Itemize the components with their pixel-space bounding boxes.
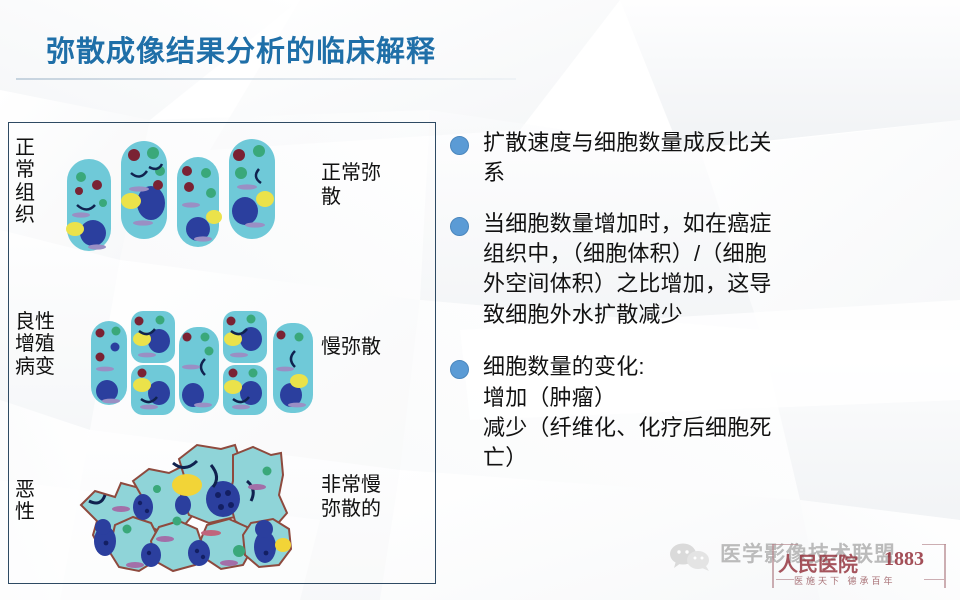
watermark: 医学影像技术联盟 人民医院 1883 医施天下 德承百年 bbox=[664, 530, 954, 596]
page-title: 弥散成像结果分析的临床解释 bbox=[46, 28, 436, 70]
bullet-dot-icon bbox=[450, 360, 469, 379]
row-label-normal-tissue: 正 常 组 织 bbox=[15, 137, 35, 227]
bullet-text: 当细胞数量增加时，如在癌症 组织中，（细胞体积）/（细胞 外空间体积）之比增加，… bbox=[483, 209, 950, 330]
malignant-cells-art bbox=[61, 429, 319, 581]
diagram-row-benign: 良性 增殖 病变 bbox=[9, 291, 437, 441]
row-label-benign-lesion: 良性 增殖 病变 bbox=[15, 311, 55, 378]
hospital-motto: 医施天下 德承百年 bbox=[794, 574, 896, 587]
bullet-text: 细胞数量的变化: 增加（肿瘤） 减少（纤维化、化疗后细胞死 亡） bbox=[483, 352, 950, 473]
diagram-row-malignant: 恶 性 bbox=[9, 429, 437, 585]
bullet-dot-icon bbox=[450, 136, 469, 155]
row-caption-slow-diffusion: 慢弥散 bbox=[321, 335, 381, 359]
benign-proliferative-cells-art bbox=[87, 307, 319, 419]
bullet-item: 当细胞数量增加时，如在癌症 组织中，（细胞体积）/（细胞 外空间体积）之比增加，… bbox=[450, 209, 950, 330]
diagram-row-normal: 正 常 组 织 bbox=[9, 123, 437, 283]
title-underline bbox=[16, 78, 516, 80]
bullet-list: 扩散速度与细胞数量成反比关 系 当细胞数量增加时，如在癌症 组织中，（细胞体积）… bbox=[450, 128, 950, 488]
hospital-logo: 人民医院 1883 医施天下 德承百年 bbox=[772, 548, 950, 594]
wechat-icon bbox=[668, 542, 712, 572]
diagram-panel: 正 常 组 织 bbox=[8, 122, 436, 584]
hospital-founding-year: 1883 bbox=[884, 548, 924, 571]
bullet-text: 扩散速度与细胞数量成反比关 系 bbox=[483, 128, 950, 189]
bullet-dot-icon bbox=[450, 217, 469, 236]
row-caption-very-slow-diffusion: 非常慢 弥散的 bbox=[321, 473, 381, 521]
row-label-malignant: 恶 性 bbox=[15, 479, 35, 524]
row-caption-normal-diffusion: 正常弥 散 bbox=[321, 161, 381, 209]
hospital-name: 人民医院 bbox=[778, 548, 858, 577]
normal-tissue-cells-art bbox=[59, 129, 309, 269]
bullet-item: 扩散速度与细胞数量成反比关 系 bbox=[450, 128, 950, 189]
bullet-item: 细胞数量的变化: 增加（肿瘤） 减少（纤维化、化疗后细胞死 亡） bbox=[450, 352, 950, 473]
